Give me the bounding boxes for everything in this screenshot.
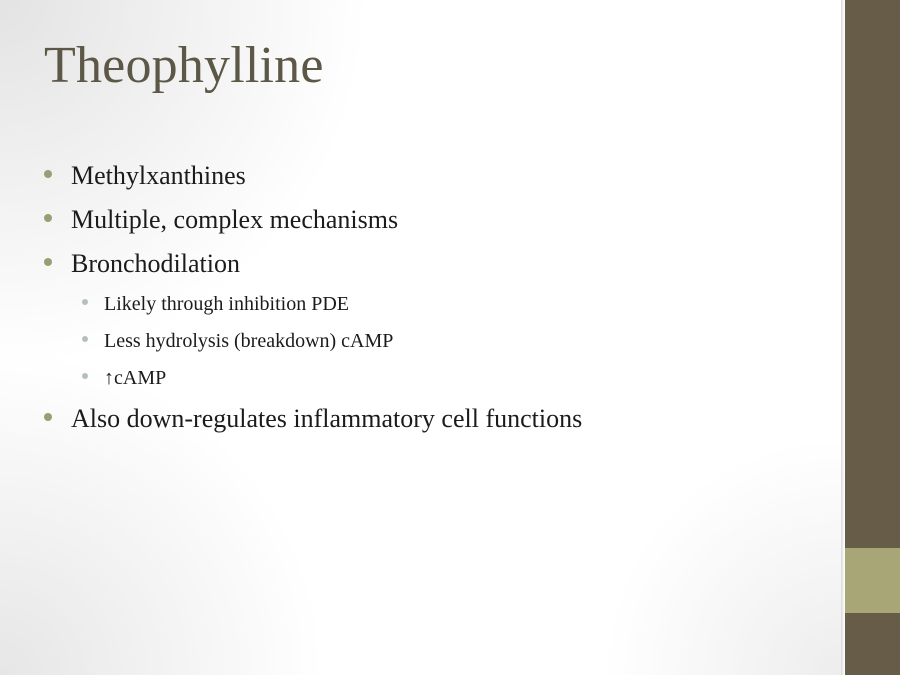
bullet-item-level2: ↑cAMP: [44, 360, 814, 397]
bullet-dot-icon: [82, 373, 88, 379]
sidebar-band-bottom: [845, 613, 900, 675]
bullet-text: Less hydrolysis (breakdown) cAMP: [104, 323, 393, 360]
decorative-sidebar: [845, 0, 900, 675]
bullet-item-level1: Bronchodilation: [44, 242, 814, 286]
bullet-dot-icon: [44, 170, 52, 178]
bullet-item-level1: Also down-regulates inflammatory cell fu…: [44, 397, 814, 441]
sidebar-band-accent: [845, 548, 900, 613]
sidebar-band-top: [845, 0, 900, 548]
bullet-dot-icon: [82, 336, 88, 342]
bullet-item-level2: Less hydrolysis (breakdown) cAMP: [44, 323, 814, 360]
bullet-text: Bronchodilation: [71, 242, 240, 286]
bullet-dot-icon: [44, 258, 52, 266]
bullet-dot-icon: [44, 214, 52, 222]
bullet-item-level1: Multiple, complex mechanisms: [44, 198, 814, 242]
bullet-item-level1: Methylxanthines: [44, 154, 814, 198]
bullet-dot-icon: [82, 299, 88, 305]
faint-watermark-artifact: [492, 86, 562, 106]
bullet-text: Multiple, complex mechanisms: [71, 198, 398, 242]
slide: Theophylline MethylxanthinesMultiple, co…: [0, 0, 900, 675]
bullet-dot-icon: [44, 413, 52, 421]
bullet-text: ↑cAMP: [104, 360, 166, 397]
slide-body-list: MethylxanthinesMultiple, complex mechani…: [44, 154, 814, 441]
slide-title: Theophylline: [44, 38, 324, 94]
bullet-text: Methylxanthines: [71, 154, 246, 198]
bullet-text: Likely through inhibition PDE: [104, 286, 349, 323]
bullet-item-level2: Likely through inhibition PDE: [44, 286, 814, 323]
bullet-text: Also down-regulates inflammatory cell fu…: [71, 397, 582, 441]
